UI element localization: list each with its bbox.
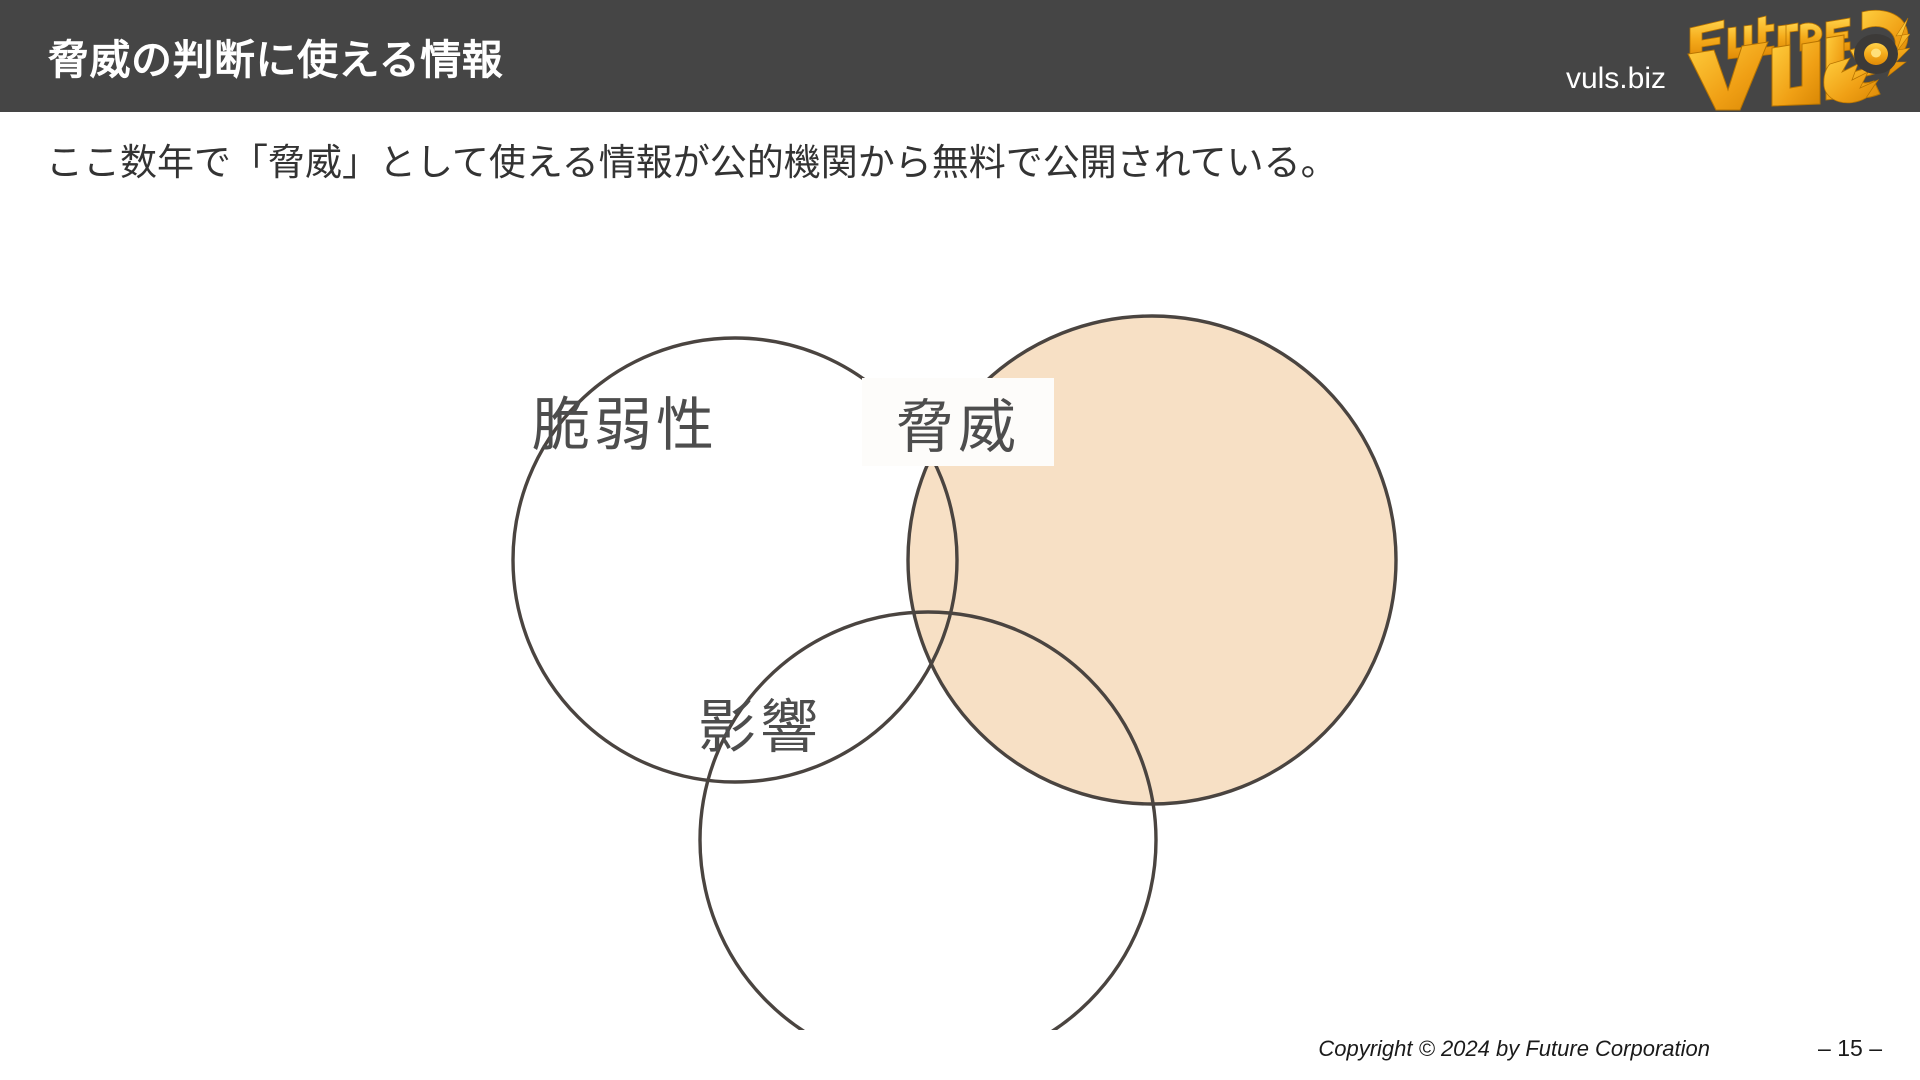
header-bar: 脅威の判断に使える情報 vuls.biz — [0, 0, 1920, 112]
venn-label-threat: 脅威 — [862, 378, 1054, 466]
footer-copyright: Copyright © 2024 by Future Corporation — [1318, 1036, 1710, 1062]
venn-diagram: 脆弱性 脅威 影響 — [0, 150, 1920, 1030]
site-url-label: vuls.biz — [1566, 62, 1666, 112]
future-vuls-logo — [1680, 6, 1910, 112]
footer-page-number: – 15 – — [1818, 1035, 1882, 1062]
page-title: 脅威の判断に使える情報 — [48, 26, 503, 86]
venn-diagram-svg — [0, 150, 1920, 1030]
venn-label-impact: 影響 — [670, 680, 850, 764]
venn-label-vulnerability: 脆弱性 — [505, 378, 745, 462]
header-right-group: vuls.biz — [1566, 0, 1910, 112]
